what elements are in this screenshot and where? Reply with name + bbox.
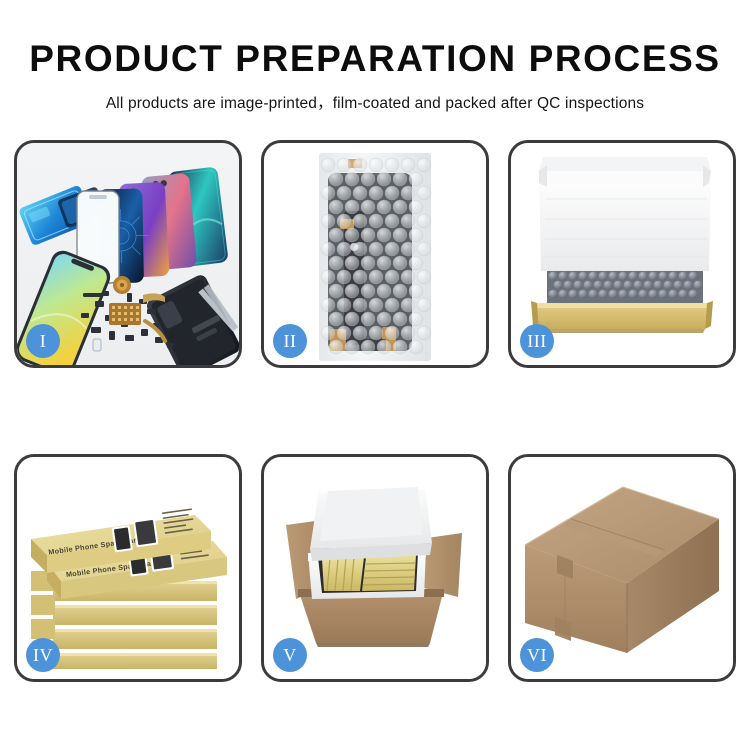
page-subtitle: All products are image-printed，film-coat… [0, 91, 750, 113]
step-badge-2: II [273, 324, 307, 358]
process-step-panel-6: VI [508, 454, 736, 682]
process-step-panel-4: Mobile Phone Spare Parts [14, 454, 242, 682]
process-step-panel-1: I [14, 140, 242, 368]
process-step-panel-5: V [261, 454, 489, 682]
process-step-panel-2: II [261, 140, 489, 368]
page-header: PRODUCT PREPARATION PROCESS All products… [0, 0, 750, 113]
step-badge-6: VI [520, 638, 554, 672]
process-step-panel-3: III [508, 140, 736, 368]
step-badge-1: I [26, 324, 60, 358]
page-title: PRODUCT PREPARATION PROCESS [0, 40, 750, 79]
step-badge-5: V [273, 638, 307, 672]
step-badge-4: IV [26, 638, 60, 672]
step-badge-3: III [520, 324, 554, 358]
process-step-grid: I [14, 140, 736, 682]
